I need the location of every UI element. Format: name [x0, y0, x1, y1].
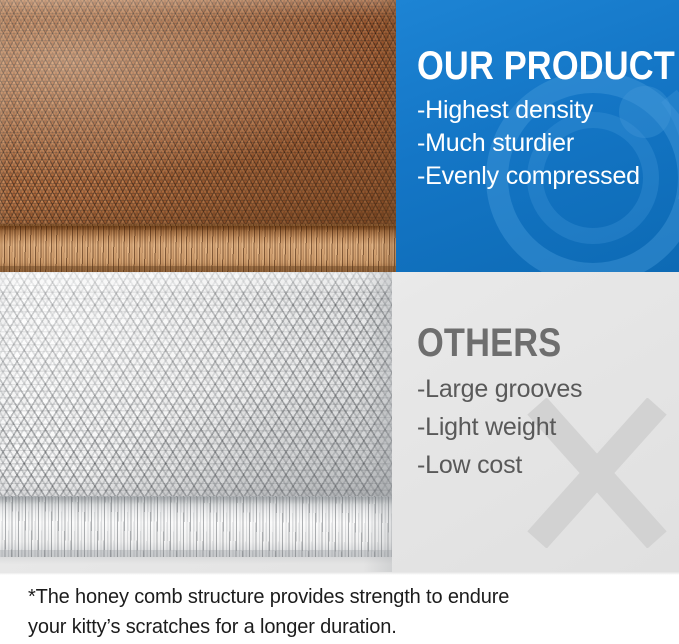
- others-bullet: -Low cost: [417, 446, 671, 484]
- footnote-divider: [0, 572, 679, 575]
- footnote-line-2: your kitty’s scratches for a longer dura…: [28, 612, 658, 642]
- others-bullet: -Light weight: [417, 408, 671, 446]
- our-product-panel: OUR PRODUCT -Highest density -Much sturd…: [396, 0, 679, 272]
- others-panel: OTHERS -Large grooves -Light weight -Low…: [396, 272, 679, 572]
- footnote-line-1: *The honey comb structure provides stren…: [28, 582, 658, 612]
- gray-board-edge: [0, 496, 392, 557]
- comparison-infographic: OUR PRODUCT -Highest density -Much sturd…: [0, 0, 679, 644]
- our-product-image: [0, 0, 400, 276]
- our-product-section: OUR PRODUCT -Highest density -Much sturd…: [0, 0, 679, 276]
- gray-honeycomb-texture: [0, 272, 392, 504]
- others-copy: OTHERS -Large grooves -Light weight -Low…: [417, 272, 671, 484]
- our-product-bullet-list: -Highest density -Much sturdier -Evenly …: [417, 94, 669, 193]
- our-product-bullet: -Evenly compressed: [417, 160, 669, 193]
- others-heading: OTHERS: [417, 272, 635, 364]
- tan-honeycomb-texture: [0, 0, 400, 228]
- gray-board-right-shading: [364, 272, 392, 572]
- our-product-heading: OUR PRODUCT: [417, 0, 634, 88]
- others-bullet-list: -Large grooves -Light weight -Low cost: [417, 370, 671, 484]
- footnote-text: *The honey comb structure provides stren…: [28, 582, 658, 642]
- gray-board-edge-shadow: [0, 550, 392, 564]
- our-product-bullet: -Highest density: [417, 94, 669, 127]
- our-product-copy: OUR PRODUCT -Highest density -Much sturd…: [417, 0, 669, 193]
- others-bullet: -Large grooves: [417, 370, 671, 408]
- our-product-bullet: -Much sturdier: [417, 127, 669, 160]
- footnote-bar: *The honey comb structure provides stren…: [0, 572, 679, 644]
- others-product-image: [0, 272, 392, 572]
